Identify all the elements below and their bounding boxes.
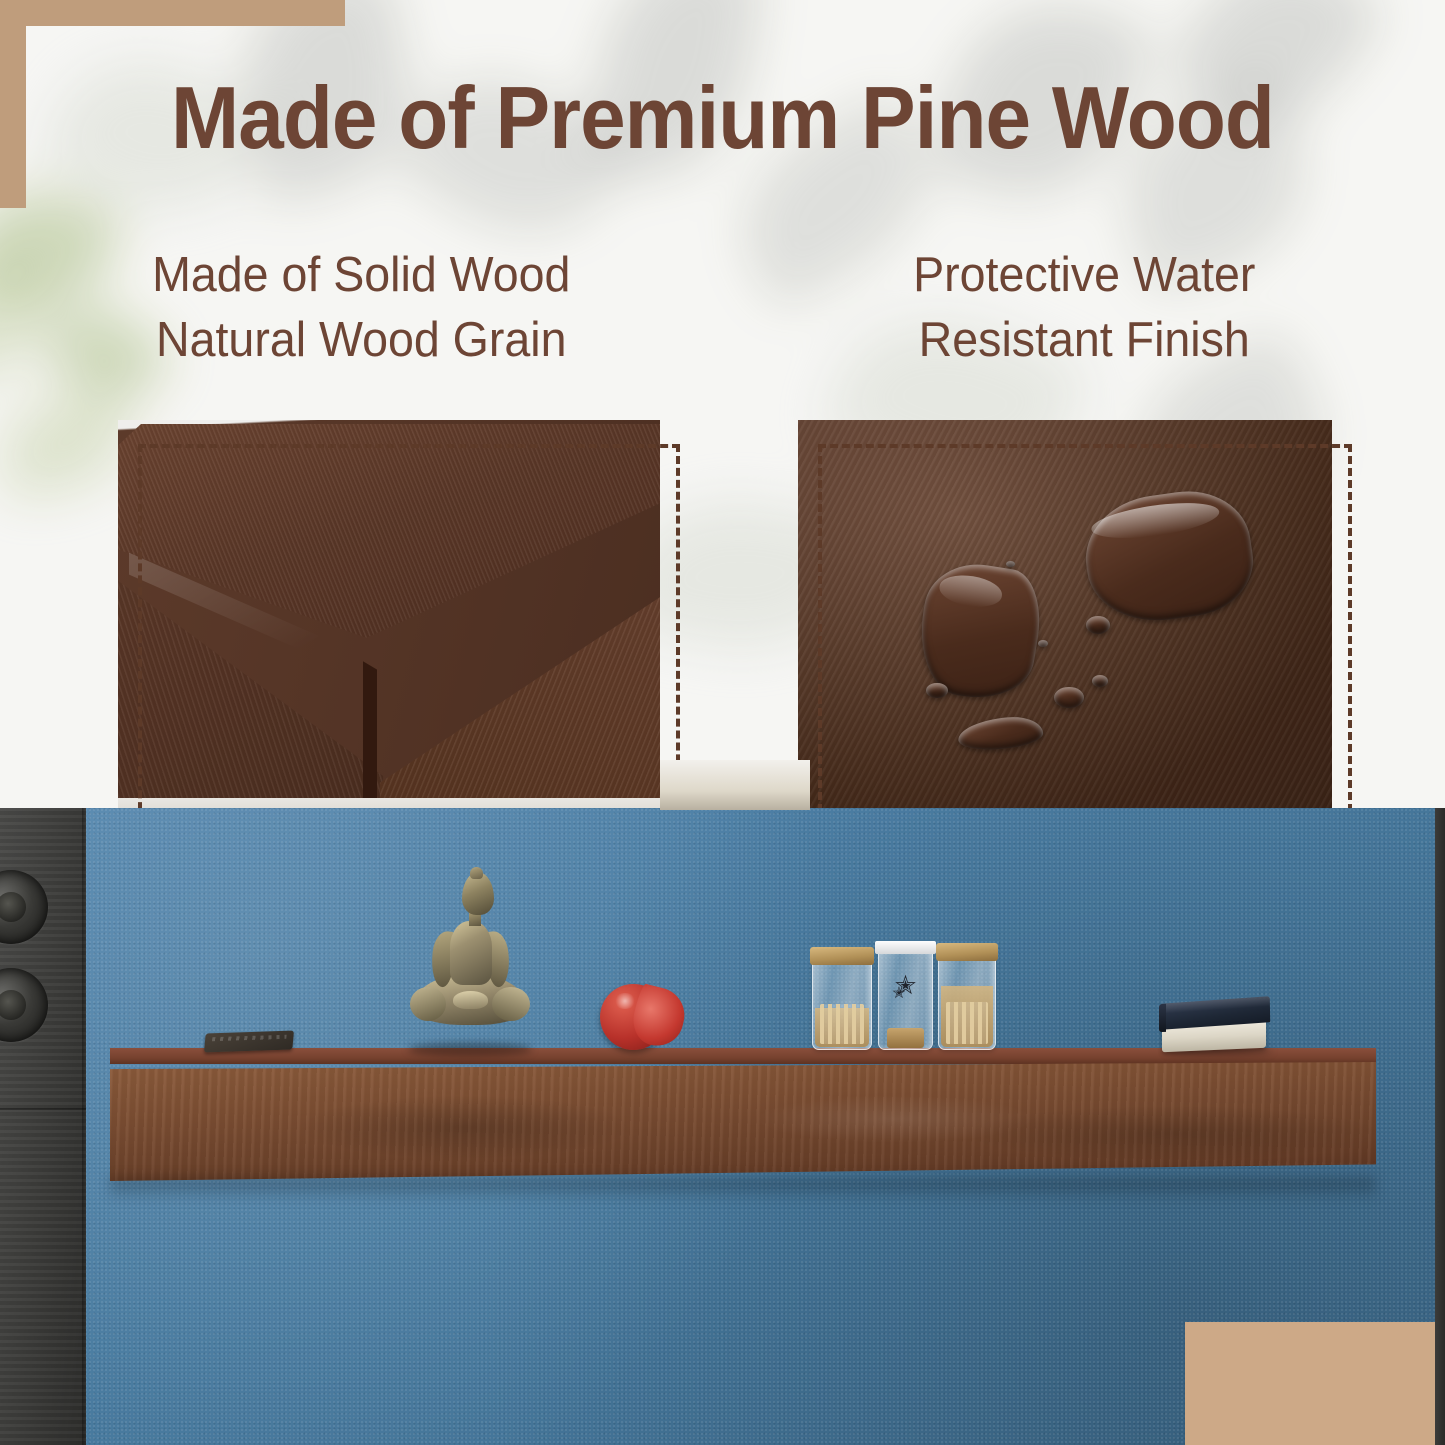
speaker-panel-seam <box>0 1108 86 1110</box>
water-droplet-small-4 <box>1092 675 1108 687</box>
feature-heading-solid-wood-line1: Made of Solid Wood <box>152 248 570 302</box>
jar-3-cork-lid <box>936 943 998 961</box>
nautilus-highlight <box>614 993 636 1009</box>
buddha-hands <box>453 991 488 1009</box>
finished-wood-surface <box>798 420 1332 812</box>
floating-wood-shelf <box>110 1048 1376 1181</box>
glass-jar-3 <box>938 954 996 1050</box>
remote-control-body <box>204 1030 294 1052</box>
water-droplet-small-1 <box>1086 616 1110 634</box>
feature-photo-water-resistant <box>798 420 1332 812</box>
buddha-knee-right <box>492 987 530 1021</box>
buddha-torso <box>450 921 492 986</box>
glass-jar-group: ✭ ✭ <box>812 950 1007 1050</box>
water-droplet-small-2 <box>1054 687 1083 709</box>
jar-2-wooden-stand <box>887 1028 924 1048</box>
buddha-statue <box>400 872 540 1052</box>
right-edge-trim <box>1435 808 1445 1445</box>
corner-block-bottom-right <box>1185 1322 1445 1445</box>
water-droplet-small-3 <box>926 683 947 699</box>
speaker-driver-top <box>0 870 48 944</box>
feature-headings-row: Made of Solid Wood Natural Wood Grain Pr… <box>0 243 1445 372</box>
feature-heading-water-resistant-line1: Protective Water <box>913 248 1255 302</box>
wood-block <box>118 420 660 822</box>
book-spine <box>1159 1004 1166 1032</box>
feature-photo-solid-wood <box>118 420 660 822</box>
corner-bracket-top-vertical <box>0 0 26 208</box>
jar-2-white-lid <box>875 941 936 954</box>
jar-3-sticks <box>946 1002 988 1044</box>
speaker-column <box>0 808 86 1445</box>
speaker-edge-shadow <box>82 808 86 1445</box>
feature-heading-water-resistant-line2: Resistant Finish <box>741 308 1427 373</box>
page-title: Made of Premium Pine Wood <box>51 72 1395 164</box>
water-droplets-image <box>798 420 1332 812</box>
jar-2-star-decor-small: ✭ <box>892 986 905 1002</box>
buddha-shadow <box>408 1043 531 1056</box>
background-seam-strip <box>660 760 810 810</box>
feature-heading-solid-wood: Made of Solid Wood Natural Wood Grain <box>18 243 704 372</box>
wood-block-top-face <box>118 424 660 649</box>
remote-control <box>205 1032 293 1051</box>
solid-wood-corner-image <box>118 420 660 822</box>
water-droplet-small-5 <box>1038 640 1048 647</box>
shelf-wood-grain <box>110 1062 1376 1181</box>
red-nautilus-ornament <box>600 984 686 1050</box>
glass-jar-2: ✭ ✭ <box>878 950 933 1050</box>
glass-jar-1 <box>812 958 872 1050</box>
feature-heading-solid-wood-line2: Natural Wood Grain <box>18 308 704 373</box>
buddha-topknot <box>470 867 483 880</box>
corner-bracket-top-horizontal <box>0 0 345 26</box>
shelf-drop-shadow <box>110 1178 1376 1200</box>
jar-1-sticks <box>820 1004 863 1044</box>
navy-book <box>1160 998 1272 1050</box>
speaker-driver-bottom <box>0 968 48 1042</box>
product-feature-poster: Made of Premium Pine Wood Made of Solid … <box>0 0 1445 1445</box>
jar-1-cork-lid <box>810 947 874 965</box>
feature-heading-water-resistant: Protective Water Resistant Finish <box>741 243 1427 372</box>
